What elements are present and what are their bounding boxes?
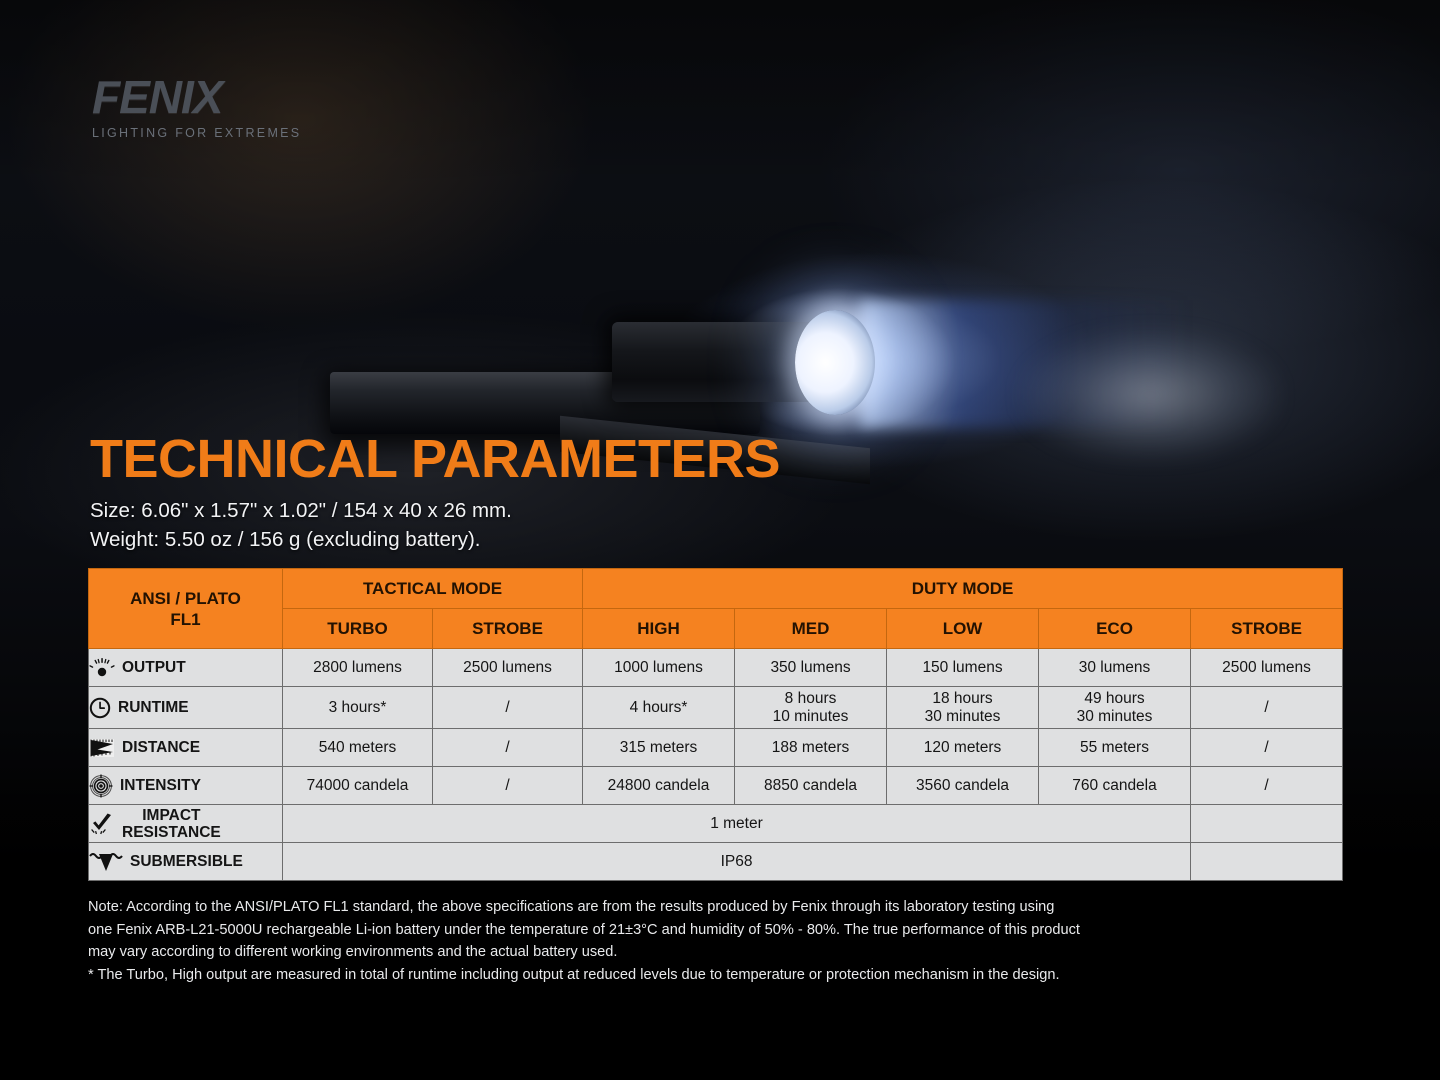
- row-label-text: IMPACTRESISTANCE: [122, 807, 221, 841]
- cell-submersible-value: IP68: [283, 843, 1191, 881]
- cell-distance-high-2: 315 meters: [583, 729, 735, 767]
- row-label-text: INTENSITY: [120, 777, 201, 794]
- cell-runtime-turbo-0: 3 hours*: [283, 687, 433, 729]
- cell-runtime-high-2: 4 hours*: [583, 687, 735, 729]
- cell-distance-turbo-0: 540 meters: [283, 729, 433, 767]
- cell-output-med-3: 350 lumens: [735, 649, 887, 687]
- table-group-header-row: ANSI / PLATO FL1 TACTICAL MODE DUTY MODE: [89, 569, 1343, 609]
- footnote-line-2: one Fenix ARB-L21-5000U rechargeable Li-…: [88, 919, 1350, 942]
- impact-drop-icon: [89, 813, 115, 835]
- footnote-line-4: * The Turbo, High output are measured in…: [88, 964, 1350, 987]
- size-text: Size: 6.06" x 1.57" x 1.02" / 154 x 40 x…: [90, 496, 512, 525]
- cell-distance-low-4: 120 meters: [887, 729, 1039, 767]
- cell-intensity-strobe-1: /: [433, 767, 583, 805]
- water-wave-icon: [89, 851, 123, 873]
- cell-empty: [1191, 805, 1343, 843]
- cell-output-low-4: 150 lumens: [887, 649, 1039, 687]
- pistol-silhouette: [330, 372, 760, 434]
- cell-empty: [1191, 843, 1343, 881]
- page-title: TECHNICAL PARAMETERS: [90, 432, 780, 486]
- cell-distance-eco-5: 55 meters: [1039, 729, 1191, 767]
- corner-header-line1: ANSI / PLATO: [89, 588, 282, 609]
- cell-output-strobe-6: 2500 lumens: [1191, 649, 1343, 687]
- mode-header-turbo: TURBO: [283, 609, 433, 649]
- cell-intensity-med-3: 8850 candela: [735, 767, 887, 805]
- brand-tagline: LIGHTING FOR EXTREMES: [92, 126, 301, 140]
- table-row: INTENSITY74000 candela/24800 candela8850…: [89, 767, 1343, 805]
- mode-header-eco: ECO: [1039, 609, 1191, 649]
- row-label-distance: DISTANCE: [89, 729, 283, 767]
- mode-header-high: HIGH: [583, 609, 735, 649]
- cell-distance-med-3: 188 meters: [735, 729, 887, 767]
- mode-header-strobe-duty: STROBE: [1191, 609, 1343, 649]
- table-row: RUNTIME3 hours*/4 hours*8 hours10 minute…: [89, 687, 1343, 729]
- cell-intensity-eco-5: 760 candela: [1039, 767, 1191, 805]
- cell-output-turbo-0: 2800 lumens: [283, 649, 433, 687]
- cell-distance-strobe-1: /: [433, 729, 583, 767]
- row-label-text: DISTANCE: [122, 739, 200, 756]
- cell-runtime-med-3: 8 hours10 minutes: [735, 687, 887, 729]
- target-icon: [89, 774, 113, 798]
- cell-runtime-strobe-6: /: [1191, 687, 1343, 729]
- flashlight-body: [612, 322, 827, 402]
- corner-header: ANSI / PLATO FL1: [89, 569, 283, 649]
- cell-intensity-strobe-6: /: [1191, 767, 1343, 805]
- cell-distance-strobe-6: /: [1191, 729, 1343, 767]
- clock-icon: [89, 697, 111, 719]
- flashlight-head-glow: [795, 310, 875, 415]
- row-label-intensity: INTENSITY: [89, 767, 283, 805]
- mode-header-strobe-tactical: STROBE: [433, 609, 583, 649]
- cell-runtime-eco-5: 49 hours30 minutes: [1039, 687, 1191, 729]
- row-label-impact-resistance: IMPACTRESISTANCE: [89, 805, 283, 843]
- footnote-block: Note: According to the ANSI/PLATO FL1 st…: [88, 896, 1350, 986]
- sunburst-icon: [89, 658, 115, 678]
- cell-intensity-low-4: 3560 candela: [887, 767, 1039, 805]
- beam-distance-icon: [89, 738, 115, 758]
- weight-text: Weight: 5.50 oz / 156 g (excluding batte…: [90, 525, 512, 554]
- fog-haze: [1020, 330, 1280, 460]
- technical-parameters-table: ANSI / PLATO FL1 TACTICAL MODE DUTY MODE…: [88, 568, 1343, 881]
- footnote-line-1: Note: According to the ANSI/PLATO FL1 st…: [88, 896, 1350, 919]
- row-label-output: OUTPUT: [89, 649, 283, 687]
- brand-wordmark: FENIX: [92, 74, 301, 120]
- cell-intensity-turbo-0: 74000 candela: [283, 767, 433, 805]
- cell-runtime-strobe-1: /: [433, 687, 583, 729]
- mode-header-med: MED: [735, 609, 887, 649]
- cell-intensity-high-2: 24800 candela: [583, 767, 735, 805]
- light-beam: [860, 300, 1190, 428]
- cell-impact-resistance-value: 1 meter: [283, 805, 1191, 843]
- group-header-tactical: TACTICAL MODE: [283, 569, 583, 609]
- footnote-line-3: may vary according to different working …: [88, 941, 1350, 964]
- table-row: OUTPUT2800 lumens2500 lumens1000 lumens3…: [89, 649, 1343, 687]
- corner-header-line2: FL1: [89, 609, 282, 630]
- mode-header-low: LOW: [887, 609, 1039, 649]
- group-header-duty: DUTY MODE: [583, 569, 1343, 609]
- table-body: OUTPUT2800 lumens2500 lumens1000 lumens3…: [89, 649, 1343, 881]
- table-row: DISTANCE540 meters/315 meters188 meters1…: [89, 729, 1343, 767]
- table-row: IMPACTRESISTANCE1 meter: [89, 805, 1343, 843]
- size-weight-block: Size: 6.06" x 1.57" x 1.02" / 154 x 40 x…: [90, 496, 512, 554]
- cell-output-eco-5: 30 lumens: [1039, 649, 1191, 687]
- cell-output-high-2: 1000 lumens: [583, 649, 735, 687]
- row-label-submersible: SUBMERSIBLE: [89, 843, 283, 881]
- row-label-runtime: RUNTIME: [89, 687, 283, 729]
- cell-runtime-low-4: 18 hours30 minutes: [887, 687, 1039, 729]
- row-label-text: SUBMERSIBLE: [130, 853, 243, 870]
- cell-output-strobe-1: 2500 lumens: [433, 649, 583, 687]
- row-label-text: OUTPUT: [122, 659, 186, 676]
- table-row: SUBMERSIBLEIP68: [89, 843, 1343, 881]
- fenix-logo: FENIX LIGHTING FOR EXTREMES: [92, 74, 301, 140]
- row-label-text: RUNTIME: [118, 699, 189, 716]
